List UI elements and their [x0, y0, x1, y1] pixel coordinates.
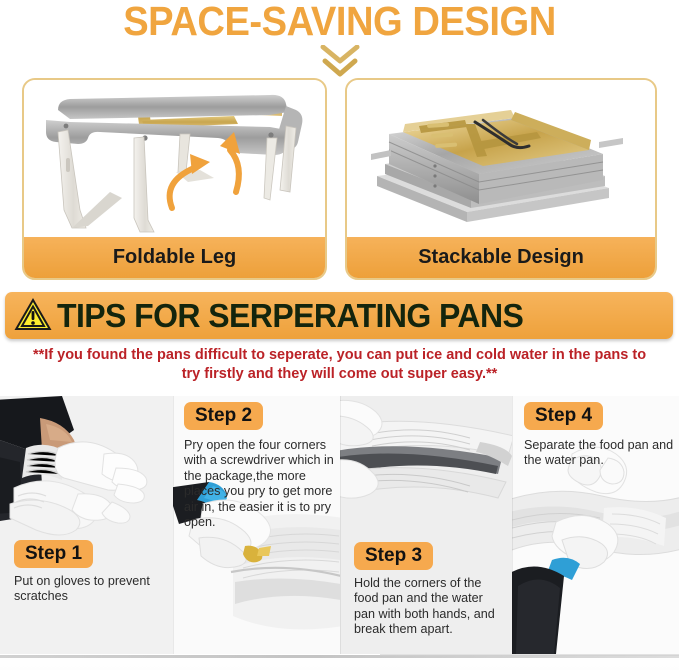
gloved-hands-photo: [0, 396, 173, 654]
step-panel-2[interactable]: Step 2 Pry open the four corners with a …: [173, 396, 340, 654]
foldable-leg-rack-illustration: [24, 80, 325, 240]
step-badge-1: Step 1: [14, 540, 93, 568]
page-title: SPACE-SAVING DESIGN: [24, 0, 655, 44]
step-body-2: Pry open the four corners with a screwdr…: [184, 438, 336, 530]
stacked-chafing-pans-illustration: [347, 80, 655, 240]
step-column-divider: [512, 396, 513, 654]
step-body-4: Separate the food pan and the water pan.: [524, 438, 674, 469]
step-panel-1[interactable]: Step 1 Put on gloves to prevent scratche…: [0, 396, 173, 654]
warning-triangle-icon: [13, 296, 53, 337]
tips-banner: TIPS FOR SERPERATING PANS: [5, 292, 673, 339]
step-body-3: Hold the corners of the food pan and the…: [354, 576, 506, 638]
step-panel-3[interactable]: Step 3 Hold the corners of the food pan …: [340, 396, 512, 654]
step-body-1: Put on gloves to prevent scratches: [14, 574, 164, 605]
step-panel-4[interactable]: Step 4 Separate the food pan and the wat…: [512, 396, 679, 654]
step-badge-4: Step 4: [524, 402, 603, 430]
steps-strip: Step 1 Put on gloves to prevent scratche…: [0, 396, 679, 670]
page-fold-line-secondary: [380, 654, 679, 656]
feature-panel-label: Stackable Design: [347, 237, 655, 278]
step-badge-3: Step 3: [354, 542, 433, 570]
step-column-divider: [340, 396, 341, 654]
feature-panel-stackable-design[interactable]: Stackable Design: [345, 78, 657, 280]
step-column-divider: [173, 396, 174, 654]
feature-panel-label: Foldable Leg: [24, 237, 325, 278]
separating-pans-photo: [512, 396, 679, 654]
chevron-double-down-icon: [0, 44, 679, 80]
feature-panel-foldable-leg[interactable]: Foldable Leg: [22, 78, 327, 280]
space-saving-design-infographic: SPACE-SAVING DESIGN: [0, 0, 679, 670]
step-badge-2: Step 2: [184, 402, 263, 430]
tips-note: **If you found the pans difficult to sep…: [0, 346, 679, 384]
feature-panels: Foldable Leg: [0, 78, 679, 282]
tips-banner-title: TIPS FOR SERPERATING PANS: [57, 297, 523, 335]
